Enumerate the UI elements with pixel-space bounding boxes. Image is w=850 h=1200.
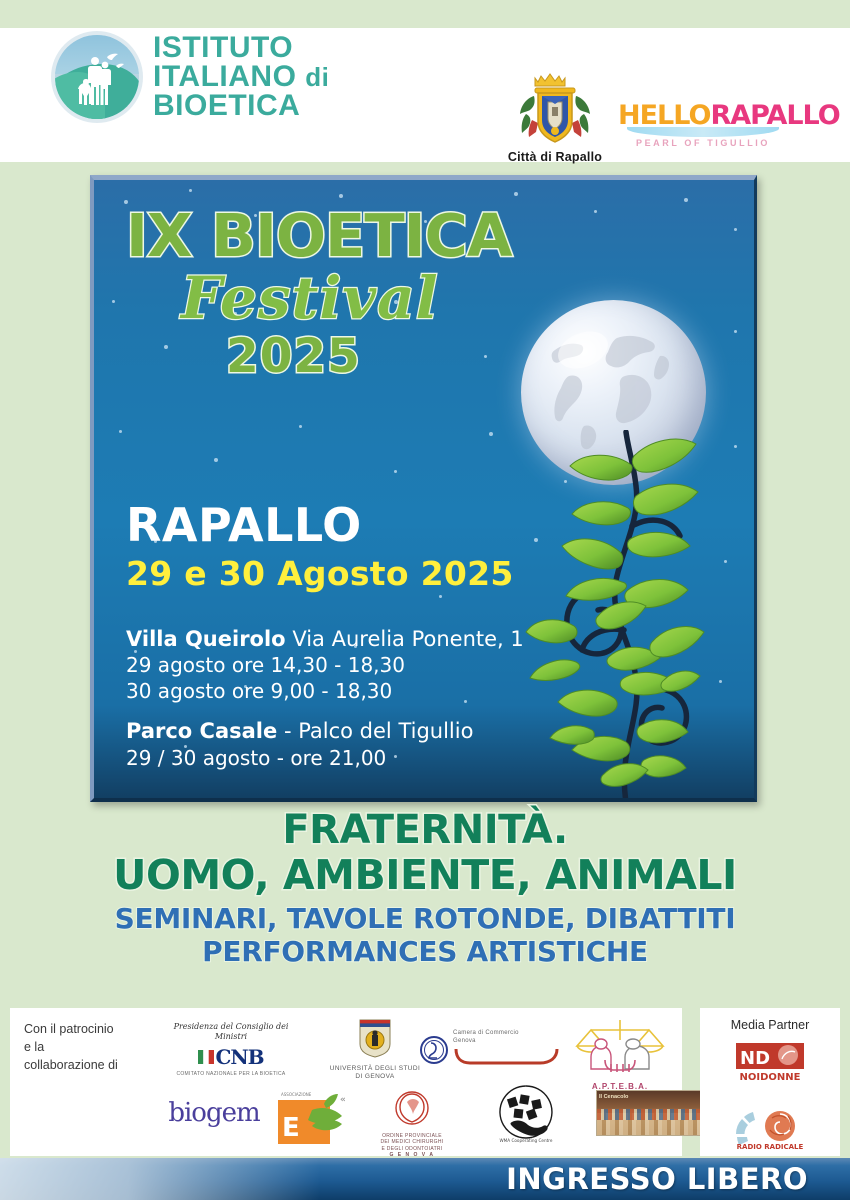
venue-name: Parco Casale xyxy=(126,719,277,743)
institute-circle-logo xyxy=(55,35,139,119)
cnb-subtitle: COMITATO NAZIONALE PER LA BIOETICA xyxy=(168,1071,294,1077)
event-city: RAPALLO xyxy=(126,502,596,548)
radio-radicale-name: RADIO RADICALE xyxy=(737,1143,804,1151)
venue-name: Villa Queirolo xyxy=(126,627,286,651)
rapallo-coat-of-arms-icon xyxy=(512,68,598,148)
theme-line-3: SEMINARI, TAVOLE ROTONDE, DIBATTITI xyxy=(0,902,850,935)
ordine-medici-icon xyxy=(394,1090,430,1126)
italy-flag-icon xyxy=(198,1050,214,1064)
poster-root: ISTITUTO ITALIANO di BIOETICA xyxy=(0,0,850,1200)
cnb-script-line: Presidenza del Consiglio dei Ministri xyxy=(168,1022,294,1042)
media-logo-noidonne: ND NOIDONNE xyxy=(700,1041,840,1090)
admission-label: INGRESSO LIBERO xyxy=(506,1162,808,1196)
institute-logo-block: ISTITUTO ITALIANO di BIOETICA xyxy=(55,34,329,120)
venue-address: - Palco del Tigullio xyxy=(284,719,474,743)
theme-line-4: PERFORMANCES ARTISTICHE xyxy=(0,935,850,968)
hello-tagline: PEARL OF TIGULLIO xyxy=(618,138,788,148)
media-logo-radio-radicale: RADIO RADICALE xyxy=(700,1104,840,1157)
unige-line1: UNIVERSITÀ DEGLI STUDI xyxy=(320,1065,430,1073)
theme-line-2: UOMO, AMBIENTE, ANIMALI xyxy=(0,854,850,897)
sponsor-label-line: e la xyxy=(24,1038,128,1056)
media-partner-panel: Media Partner ND NOIDONNE xyxy=(700,1008,840,1156)
radio-radicale-icon: RADIO RADICALE xyxy=(728,1104,812,1152)
venue-item: Parco Casale - Palco del Tigullio 29 / 3… xyxy=(126,718,606,770)
unige-shield-icon xyxy=(358,1018,392,1058)
sponsor-logo-eti: ASSOCIAZIONE E « xyxy=(276,1088,362,1149)
noidonne-name: NOIDONNE xyxy=(740,1072,801,1083)
main-blue-panel: IX BIOETICA Festival 2025 RAPALLO 29 e 3… xyxy=(90,175,757,802)
sponsor-logo-unesco-chair: WMA Cooperating Centre xyxy=(466,1082,586,1149)
svg-text:ASSOCIAZIONE: ASSOCIAZIONE xyxy=(281,1092,312,1097)
bottom-bar-gradient xyxy=(0,1158,320,1200)
sponsor-logo-cnb: Presidenza del Consiglio dei Ministri CN… xyxy=(168,1022,294,1077)
sponsor-logo-grid: Presidenza del Consiglio dei Ministri CN… xyxy=(130,1012,682,1154)
unesco-chair-icon: WMA Cooperating Centre xyxy=(488,1082,564,1144)
festival-title-script: Festival xyxy=(181,269,596,327)
city-date-block: RAPALLO 29 e 30 Agosto 2025 xyxy=(126,502,596,593)
festival-title-year: 2025 xyxy=(226,333,596,380)
sponsor-label-line: Con il patrocinio xyxy=(24,1020,128,1038)
camera-commercio-line1: Camera di Commercio xyxy=(453,1030,560,1038)
sponsor-logo-camera-commercio: Camera di Commercio Genova xyxy=(420,1030,560,1070)
venue-time: 29 agosto ore 14,30 - 18,30 xyxy=(126,652,606,678)
camera-commercio-line2: Genova xyxy=(453,1038,560,1046)
noidonne-mark: ND xyxy=(740,1048,770,1069)
biogem-name: biogem xyxy=(168,1098,259,1128)
institute-line3: BIOETICA xyxy=(153,89,300,122)
institute-name: ISTITUTO ITALIANO di BIOETICA xyxy=(153,34,329,120)
hello-rapallo-logo: HELLORAPALLO PEARL OF TIGULLIO xyxy=(618,102,788,148)
cnb-acronym: CNB xyxy=(215,1045,263,1069)
noidonne-icon: ND NOIDONNE xyxy=(734,1041,806,1085)
svg-text:E: E xyxy=(282,1113,300,1143)
hello-swoosh-icon xyxy=(627,127,779,137)
festival-title-block: IX BIOETICA Festival 2025 xyxy=(126,206,596,380)
venue-time: 29 / 30 agosto - ore 21,00 xyxy=(126,745,606,771)
poster-header: ISTITUTO ITALIANO di BIOETICA xyxy=(0,28,850,162)
theme-block: FRATERNITÀ. UOMO, AMBIENTE, ANIMALI SEMI… xyxy=(0,810,850,968)
unige-line2: DI GENOVA xyxy=(320,1073,430,1081)
sponsor-label-line: collaborazione di xyxy=(24,1056,128,1074)
event-dates: 29 e 30 Agosto 2025 xyxy=(126,555,596,593)
institute-line2-suffix: di xyxy=(305,62,329,92)
media-partner-title: Media Partner xyxy=(700,1008,840,1032)
sponsor-logo-cenacolo: Il Cenacolo xyxy=(596,1090,716,1136)
svg-text:WMA Cooperating Centre: WMA Cooperating Centre xyxy=(500,1138,553,1143)
apteba-scales-icon xyxy=(571,1016,669,1076)
camera-commercio-seal-icon xyxy=(420,1036,448,1064)
city-crest-caption: Città di Rapallo xyxy=(505,150,605,164)
festival-title-main: IX BIOETICA xyxy=(126,206,596,265)
camera-commercio-swoosh-icon xyxy=(454,1047,559,1065)
venue-list: Villa Queirolo Via Aurelia Ponente, 1 29… xyxy=(126,626,606,785)
sponsor-logo-ordine-medici: ORDINE PROVINCIALE DEI MEDICI CHIRURGHI … xyxy=(356,1090,468,1158)
city-crest-block: Città di Rapallo xyxy=(505,68,605,164)
eti-icon: ASSOCIAZIONE E « xyxy=(278,1088,360,1144)
bottom-bar: INGRESSO LIBERO xyxy=(0,1158,850,1200)
sponsor-logo-biogem: biogem xyxy=(154,1098,274,1128)
venue-time: 30 agosto ore 9,00 - 18,30 xyxy=(126,678,606,704)
svg-text:«: « xyxy=(340,1095,346,1105)
top-green-band xyxy=(0,0,850,28)
sponsor-logo-unige: UNIVERSITÀ DEGLI STUDI DI GENOVA xyxy=(320,1018,430,1081)
venue-item: Villa Queirolo Via Aurelia Ponente, 1 29… xyxy=(126,626,606,704)
sponsor-panel: Con il patrocinio e la collaborazione di… xyxy=(10,1008,682,1156)
venue-address: Via Aurelia Ponente, 1 xyxy=(292,627,523,651)
sponsor-logo-apteba: A.P.T.E.B.A. xyxy=(562,1016,678,1092)
sponsor-label: Con il patrocinio e la collaborazione di xyxy=(24,1020,128,1074)
cenacolo-caption: Il Cenacolo xyxy=(599,1094,628,1100)
cenacolo-painting-icon: Il Cenacolo xyxy=(596,1090,710,1136)
theme-line-1: FRATERNITÀ. xyxy=(0,810,850,852)
